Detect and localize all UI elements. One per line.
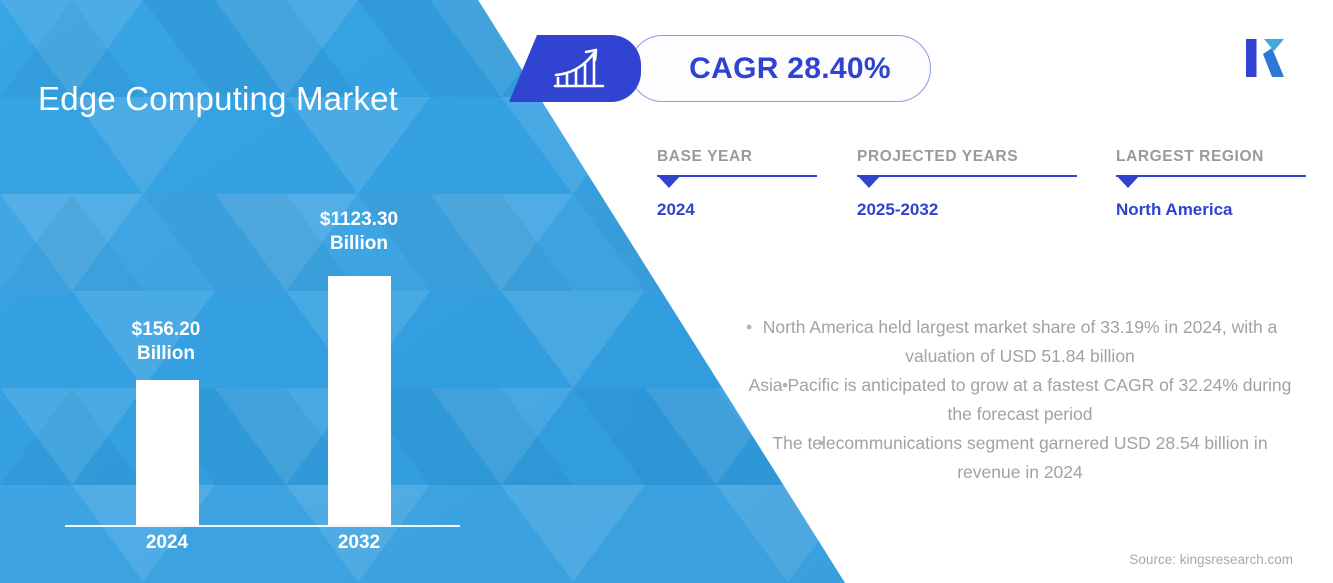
list-item-text: Asia Pacific is anticipated to grow at a… [740,371,1300,429]
stat-rule-projected-years [857,175,1077,177]
x-axis-tick-2024: 2024 [87,532,247,554]
bar-chart-growth-icon [509,35,641,102]
stat-projected-years: PROJECTED YEARS 2025-2032 [857,148,1077,220]
bar-chart: $156.20 Billion $1123.30 Billion 2024 20… [0,0,500,583]
list-item: • Asia Pacific is anticipated to grow at… [740,371,1300,429]
highlights-list: • North America held largest market shar… [740,313,1300,487]
stat-value-base-year: 2024 [657,200,817,220]
chart-baseline [65,525,460,527]
list-item-text: North America held largest market share … [740,313,1300,371]
cagr-label: CAGR 28.40% [689,52,891,86]
list-item: • North America held largest market shar… [740,313,1300,371]
bar-value-label-2032: $1123.30 Billion [279,208,439,256]
triangle-down-icon [857,175,881,188]
bar-2024 [136,380,199,525]
bar-2032 [328,276,391,525]
bullet-dot-icon: • [746,313,752,342]
logo-leg [1263,48,1284,77]
bar-value-unit-2032: Billion [330,233,388,254]
bullet-dot-icon: • [782,371,788,400]
stats-row: BASE YEAR 2024 PROJECTED YEARS 2025-2032… [657,148,1287,238]
triangle-down-icon [1116,175,1140,188]
bar-value-amount-2024: $156.20 [132,319,201,340]
source-attribution: Source: kingsresearch.com [1129,552,1293,567]
stat-rule-base-year [657,175,817,177]
logo-stem [1246,39,1257,77]
cagr-badge: CAGR 28.40% [509,35,931,102]
stat-label-projected-years: PROJECTED YEARS [857,148,1077,166]
stat-value-projected-years: 2025-2032 [857,200,1077,220]
bullet-dot-icon: • [818,429,824,458]
stat-rule-largest-region [1116,175,1306,177]
bar-value-unit-2024: Billion [137,343,195,364]
bar-value-amount-2032: $1123.30 [320,209,398,230]
stat-value-largest-region: North America [1116,200,1306,220]
stat-label-largest-region: LARGEST REGION [1116,148,1306,166]
stat-largest-region: LARGEST REGION North America [1116,148,1306,220]
list-item: • The telecommunications segment garnere… [740,429,1300,487]
triangle-down-icon [657,175,681,188]
infographic-root: Edge Computing Market $156.20 Billion $1… [0,0,1333,583]
stat-label-base-year: BASE YEAR [657,148,817,166]
x-axis-tick-2032: 2032 [279,532,439,554]
bar-value-label-2024: $156.20 Billion [86,318,246,366]
logo-triangle-icon [1264,39,1284,51]
cagr-pill: CAGR 28.40% [629,35,931,102]
kings-research-logo[interactable] [1239,32,1291,84]
stat-base-year: BASE YEAR 2024 [657,148,817,220]
